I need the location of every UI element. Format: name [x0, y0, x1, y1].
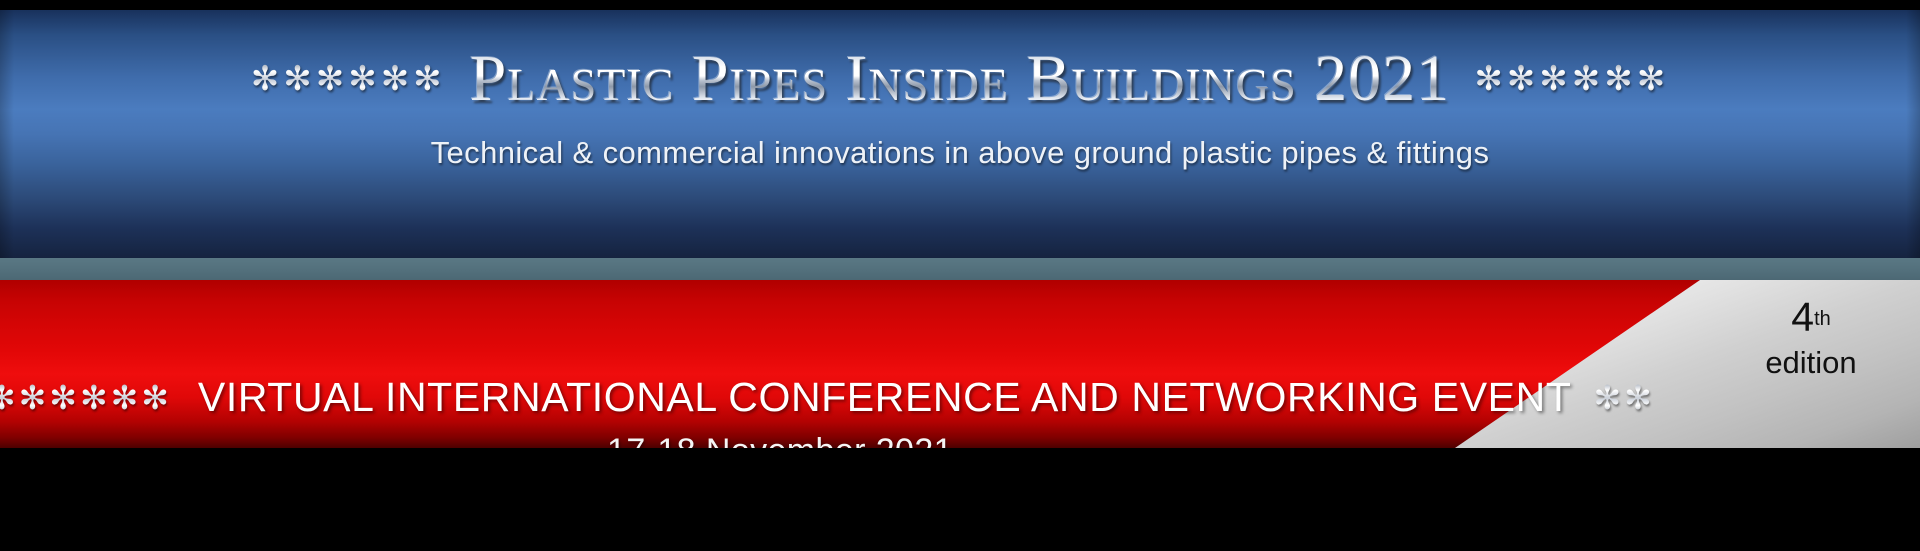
edition-ordinal-suffix: th: [1814, 309, 1831, 330]
top-black-strip: [0, 0, 1920, 10]
edition-label: edition: [1736, 347, 1886, 380]
edition-number-line: 4th: [1736, 296, 1886, 339]
conference-title: Plastic Pipes Inside Buildings 2021: [456, 41, 1465, 117]
conference-banner: ✻✻✻✻✻✻ Plastic Pipes Inside Buildings 20…: [0, 0, 1920, 551]
star-decoration-left-icon: ✻✻✻✻✻✻: [251, 62, 446, 96]
header-title-row: ✻✻✻✻✻✻ Plastic Pipes Inside Buildings 20…: [0, 39, 1920, 119]
edition-badge: 4th edition: [1736, 296, 1886, 380]
bottom-black-strip: [0, 448, 1920, 551]
event-date: 17-18 November 2021: [0, 432, 1560, 448]
star-decoration-right-icon: ✻✻✻✻✻✻: [1474, 62, 1669, 96]
blue-header-band: ✻✻✻✻✻✻ Plastic Pipes Inside Buildings 20…: [0, 10, 1920, 258]
conference-subtitle: Technical & commercial innovations in ab…: [0, 135, 1920, 171]
event-title-row: ✻✻✻✻✻✻ VIRTUAL INTERNATIONAL CONFERENCE …: [0, 374, 1920, 421]
red-event-band: ✻✻✻✻✻✻ VIRTUAL INTERNATIONAL CONFERENCE …: [0, 280, 1920, 448]
event-star-decoration-left-icon: ✻✻✻✻✻✻: [0, 381, 172, 414]
event-title: VIRTUAL INTERNATIONAL CONFERENCE AND NET…: [198, 374, 1572, 421]
section-divider: [0, 258, 1920, 280]
edition-number: 4: [1791, 296, 1814, 339]
event-star-decoration-right-icon: ✻✻: [1593, 381, 1654, 414]
